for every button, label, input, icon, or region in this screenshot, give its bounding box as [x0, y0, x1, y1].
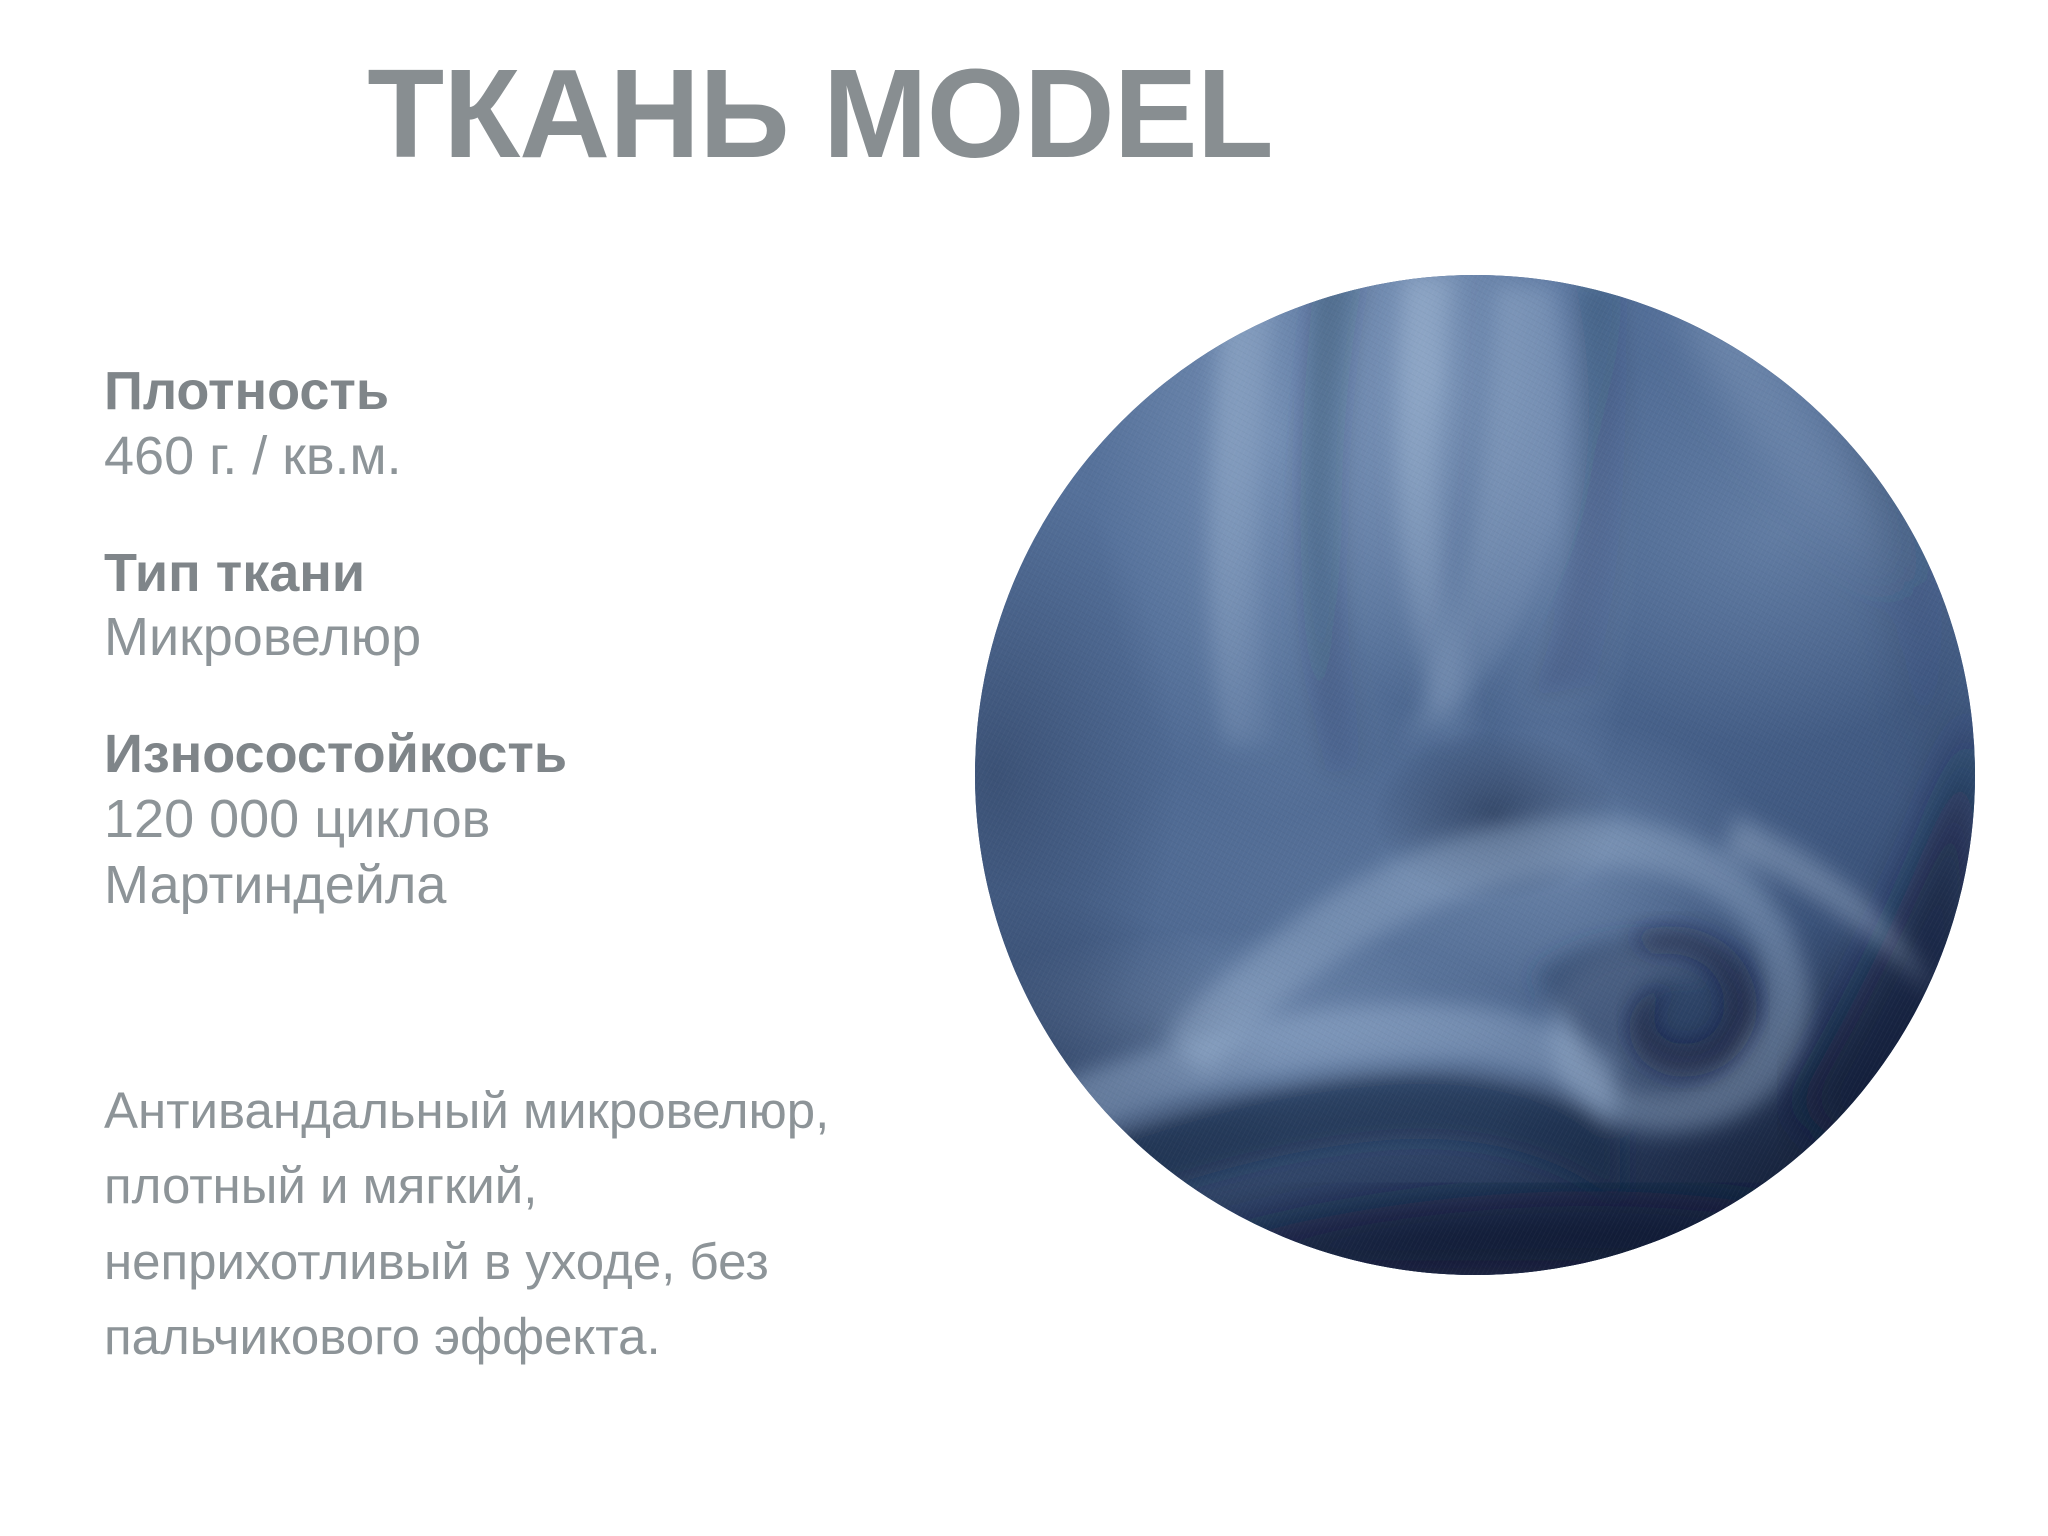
spec-abrasion-resistance: Износостойкость 120 000 циклов Мартиндей… [104, 723, 904, 918]
spec-density: Плотность 460 г. / кв.м. [104, 360, 904, 490]
spec-fabric-type: Тип ткани Микровелюр [104, 542, 904, 672]
spec-density-value: 460 г. / кв.м. [104, 424, 904, 490]
spec-fabric-type-value: Микровелюр [104, 605, 904, 671]
spec-abrasion-resistance-label: Износостойкость [104, 723, 904, 787]
description-line-3: неприхотливый в уходе, без [104, 1224, 1034, 1299]
spec-abrasion-resistance-value-line-1: 120 000 циклов [104, 787, 904, 853]
fabric-spec-slide: ТКАНЬ MODEL Плотность 460 г. / кв.м. Тип… [0, 0, 2048, 1536]
fabric-swatch-photo [975, 275, 1975, 1275]
description-line-4: пальчикового эффекта. [104, 1299, 1034, 1374]
description-line-1: Антивандальный микровелюр, [104, 1073, 1034, 1148]
fabric-micro-texture [975, 275, 1975, 1275]
spec-density-label: Плотность [104, 360, 904, 424]
page-title: ТКАНЬ MODEL [0, 48, 1640, 180]
spec-fabric-type-label: Тип ткани [104, 542, 904, 606]
specifications-list: Плотность 460 г. / кв.м. Тип ткани Микро… [104, 360, 904, 971]
fabric-description: Антивандальный микровелюр, плотный и мяг… [104, 1073, 1034, 1375]
description-line-2: плотный и мягкий, [104, 1148, 1034, 1223]
spec-abrasion-resistance-value-line-2: Мартиндейла [104, 853, 904, 919]
